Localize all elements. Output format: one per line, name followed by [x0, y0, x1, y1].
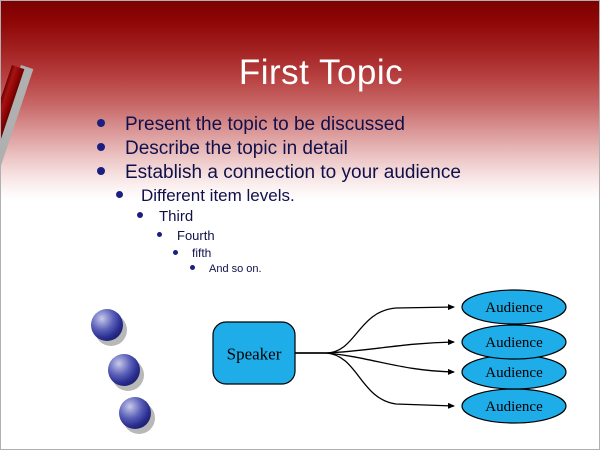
bullet-dot-icon — [190, 265, 195, 270]
bullet-label: Describe the topic in detail — [125, 138, 348, 160]
sphere-ball — [108, 354, 140, 386]
sphere-ball — [119, 397, 151, 429]
diagram-node-audience-1[interactable]: Audience — [462, 290, 566, 324]
diagram-node-audience-3[interactable]: Audience — [462, 355, 566, 389]
bullet-dot-icon — [97, 119, 105, 127]
slide-canvas: First Topic Present the topic to be disc… — [0, 0, 600, 450]
bullet-label: Fourth — [177, 228, 215, 243]
edge-speaker-to-audience-1 — [294, 307, 454, 353]
bullet-label: Present the topic to be discussed — [125, 114, 405, 136]
decorative-sphere-1 — [91, 309, 127, 345]
diagram-node-audience-2[interactable]: Audience — [462, 325, 566, 359]
diagram-edges — [294, 307, 454, 406]
audience-label-2: Audience — [485, 335, 543, 351]
bullet-item-2: Describe the topic in detail — [97, 138, 567, 162]
bullet-item-1: Present the topic to be discussed — [97, 114, 567, 138]
audience-label-4: Audience — [485, 399, 543, 415]
bullet-dot-icon — [116, 191, 123, 198]
bullet-item-8: And so on. — [190, 263, 567, 279]
bullet-item-4: Different item levels. — [116, 186, 567, 208]
bullet-label: And so on. — [209, 263, 262, 275]
bullet-item-5: Third — [137, 208, 567, 228]
decorative-sphere-3 — [119, 397, 155, 433]
bullet-dot-icon — [137, 212, 143, 218]
bullet-list: Present the topic to be discussed Descri… — [97, 114, 567, 279]
speaker-audience-diagram: Speaker Audience Audience Audience Audie… — [196, 281, 596, 431]
bullet-item-6: Fourth — [157, 228, 567, 246]
decorative-sphere-2 — [108, 354, 144, 390]
edge-speaker-to-audience-3 — [294, 353, 454, 372]
diagram-node-speaker[interactable]: Speaker — [213, 322, 295, 384]
audience-label-1: Audience — [485, 300, 543, 316]
sphere-ball — [91, 309, 123, 341]
speaker-label: Speaker — [227, 345, 282, 364]
bullet-item-7: fifth — [173, 246, 567, 263]
bullet-dot-icon — [97, 167, 105, 175]
slide-title: First Topic — [121, 53, 521, 93]
bullet-dot-icon — [173, 250, 178, 255]
bullet-item-3: Establish a connection to your audience — [97, 162, 567, 186]
bullet-dot-icon — [97, 143, 105, 151]
bullet-label: fifth — [192, 246, 211, 260]
audience-label-3: Audience — [485, 365, 543, 381]
edge-speaker-to-audience-2 — [294, 342, 454, 353]
bullet-label: Different item levels. — [141, 186, 295, 206]
bullet-dot-icon — [157, 232, 162, 237]
bullet-label: Establish a connection to your audience — [125, 162, 461, 184]
bullet-label: Third — [159, 208, 193, 225]
diagram-node-audience-4[interactable]: Audience — [462, 389, 566, 423]
